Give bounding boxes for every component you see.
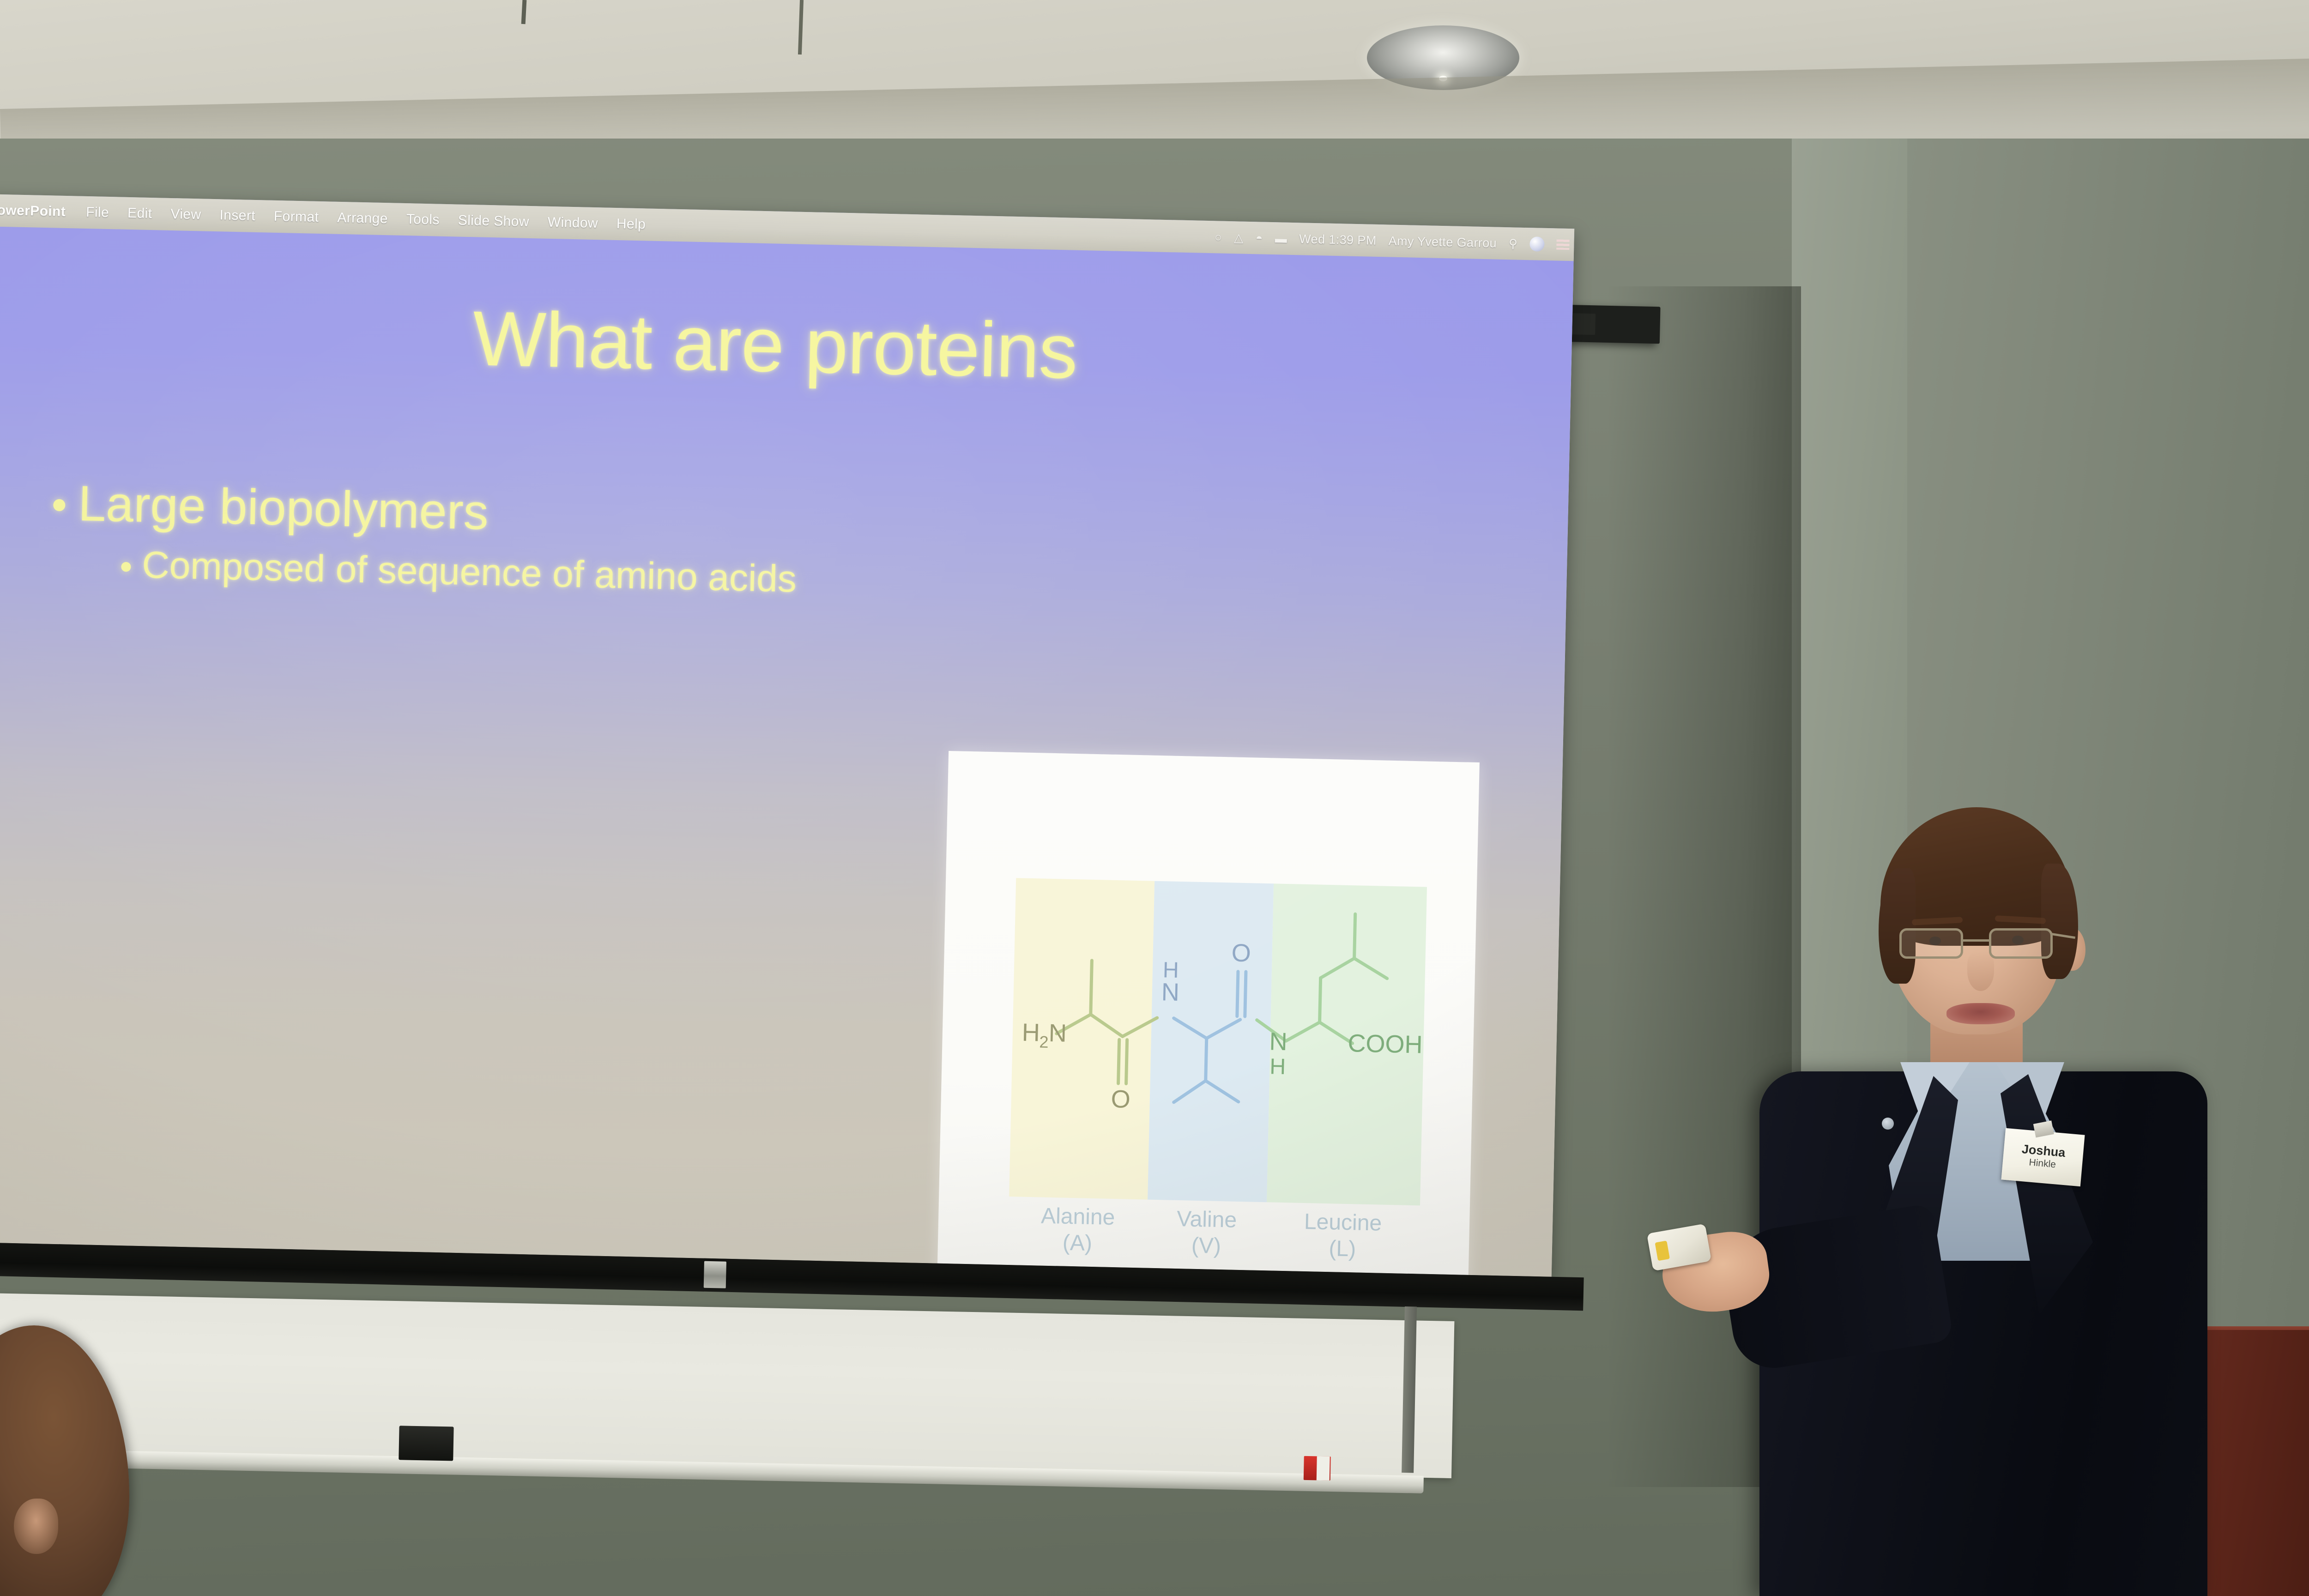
- presenter-mouth: [1946, 1003, 2015, 1024]
- lapel-pin-icon: [1882, 1118, 1894, 1130]
- screen-surface: PowerPoint File Edit View Insert Format …: [0, 194, 1574, 1277]
- screen-pull-tab: [704, 1261, 726, 1288]
- badge-first-name: Joshua: [2021, 1142, 2066, 1160]
- whiteboard: [0, 1293, 1454, 1478]
- badge-last-name: Hinkle: [2029, 1157, 2056, 1170]
- badge-clip-icon: [2033, 1120, 2054, 1137]
- name-badge: Joshua Hinkle: [2001, 1128, 2085, 1187]
- glasses-icon: [1897, 928, 2059, 962]
- glasses-lens-left: [1899, 928, 1963, 959]
- audience-member-ear: [14, 1499, 58, 1554]
- projected-slide: PowerPoint File Edit View Insert Format …: [0, 194, 1574, 1277]
- glasses-bridge: [1963, 939, 1990, 942]
- glasses-lens-right: [1989, 928, 2053, 959]
- presenter: Joshua Hinkle: [1672, 813, 2207, 1596]
- projection-screen: PowerPoint File Edit View Insert Format …: [0, 194, 1644, 1320]
- marker-box[interactable]: [1304, 1456, 1331, 1481]
- projection-vignette: [0, 194, 1574, 1277]
- whiteboard-assembly: [0, 1293, 1491, 1543]
- whiteboard-eraser[interactable]: [399, 1426, 453, 1461]
- lecture-hall-scene: PowerPoint File Edit View Insert Format …: [0, 0, 2309, 1596]
